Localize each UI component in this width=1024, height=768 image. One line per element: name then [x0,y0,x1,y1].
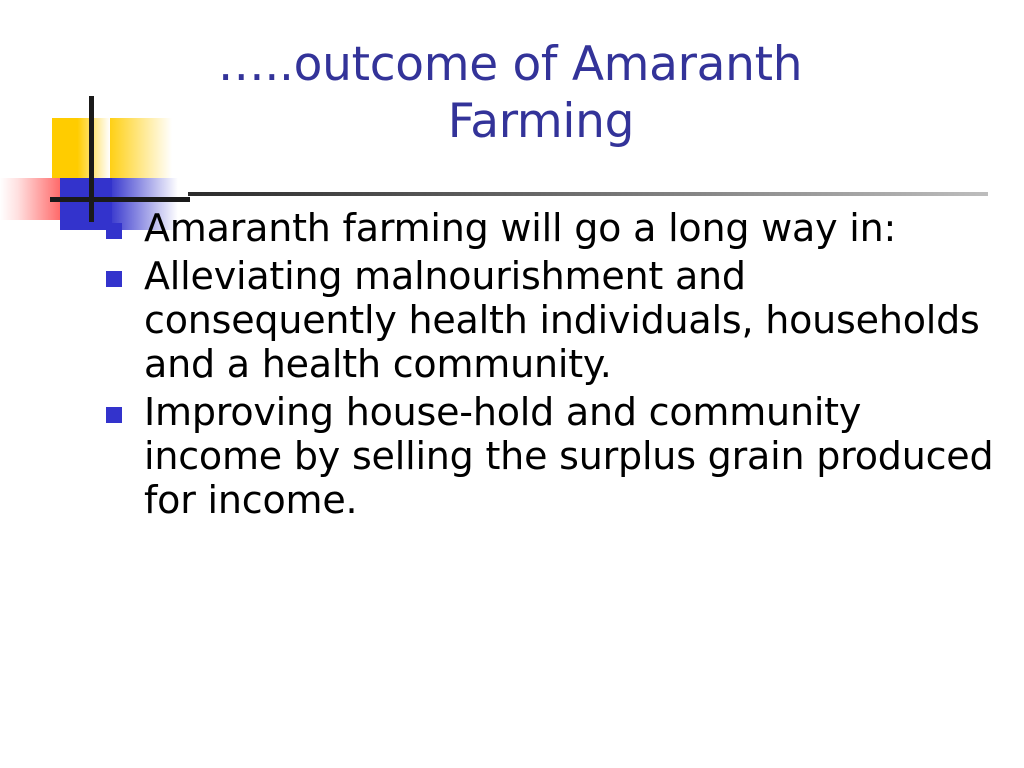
list-item-text: Improving house-hold and community incom… [144,390,1006,522]
list-item-text: Amaranth farming will go a long way in: [144,206,1006,250]
horizontal-rule-decoration [50,197,190,202]
slide-title: …..outcome of Amaranth Farming [96,36,976,151]
list-item-text: Alleviating malnourishment and consequen… [144,254,1006,386]
list-item: Improving house-hold and community incom… [96,390,1006,522]
list-item: Amaranth farming will go a long way in: [96,206,1006,250]
title-divider-line [188,192,988,196]
slide-title-line-2: Farming [96,93,976,150]
list-item: Alleviating malnourishment and consequen… [96,254,1006,386]
slide-title-line-1: …..outcome of Amaranth [96,36,976,93]
slide-canvas: …..outcome of Amaranth Farming Amaranth … [0,0,1024,768]
vertical-rule-decoration [89,96,94,222]
square-bullet-icon [106,223,122,239]
square-bullet-icon [106,407,122,423]
square-bullet-icon [106,271,122,287]
bullet-list: Amaranth farming will go a long way in: … [96,206,1006,527]
